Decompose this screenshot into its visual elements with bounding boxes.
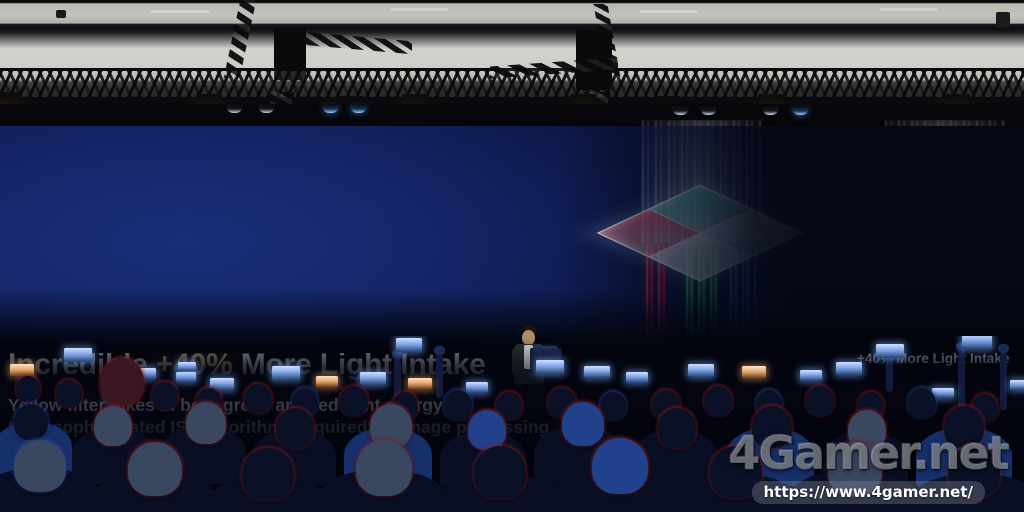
phone-screen (176, 372, 196, 382)
audience-head (468, 410, 506, 450)
projection-screen: +40% More Light Intake Incredible +40% M… (0, 126, 1024, 351)
raised-arm (958, 348, 965, 410)
phone-screen (1010, 380, 1024, 390)
audience-head (908, 388, 936, 418)
audience-head (356, 440, 412, 496)
phone-screen (626, 372, 648, 383)
raised-arm (1000, 352, 1007, 410)
audience-head (704, 386, 732, 416)
presentation-photo: +40% More Light Intake Incredible +40% M… (0, 0, 1024, 512)
phone-screen (742, 366, 766, 378)
phone-screen (688, 364, 714, 377)
audience-head (16, 376, 40, 402)
phone-screen (466, 382, 488, 393)
audience-head (806, 386, 834, 416)
watermark-logo: 4Gamer.net (729, 430, 1008, 476)
hand (434, 346, 445, 355)
watermark: 4Gamer.net https://www.4gamer.net/ (729, 430, 1008, 504)
audience-head (152, 382, 178, 410)
audience-head (100, 358, 144, 406)
phone-screen (800, 370, 822, 381)
audience-head (340, 386, 368, 416)
raised-arm (436, 354, 443, 398)
phone-screen (932, 388, 954, 398)
audience-head (444, 390, 472, 420)
phone-screen (584, 366, 610, 378)
audience-head (562, 402, 604, 446)
audience-head (658, 408, 696, 448)
audience-head (128, 442, 182, 496)
phone-screen (962, 336, 992, 349)
phone-screen (64, 348, 92, 362)
phone-screen (396, 338, 422, 352)
phone-screen (836, 362, 862, 375)
phone-screen (408, 378, 432, 389)
audience-head (592, 438, 648, 494)
audience-head (276, 408, 314, 448)
audience-head (56, 380, 82, 408)
watermark-url: https://www.4gamer.net/ (752, 481, 986, 504)
phone-screen (178, 362, 196, 371)
audience-head (242, 448, 294, 500)
phone-screen (876, 344, 904, 358)
phone-screen (536, 360, 564, 374)
phone-screen (272, 366, 300, 380)
phone-screen (10, 364, 34, 376)
audience-head (244, 384, 272, 414)
hand (998, 344, 1009, 353)
phone-screen (316, 376, 338, 387)
audience-head (474, 446, 526, 498)
audience-head (14, 404, 48, 440)
audience-head (94, 406, 132, 446)
audience-head (186, 402, 226, 444)
audience-head (14, 440, 66, 492)
raised-arm (886, 358, 893, 392)
audience-head (600, 392, 626, 420)
phone-screen (360, 372, 386, 385)
